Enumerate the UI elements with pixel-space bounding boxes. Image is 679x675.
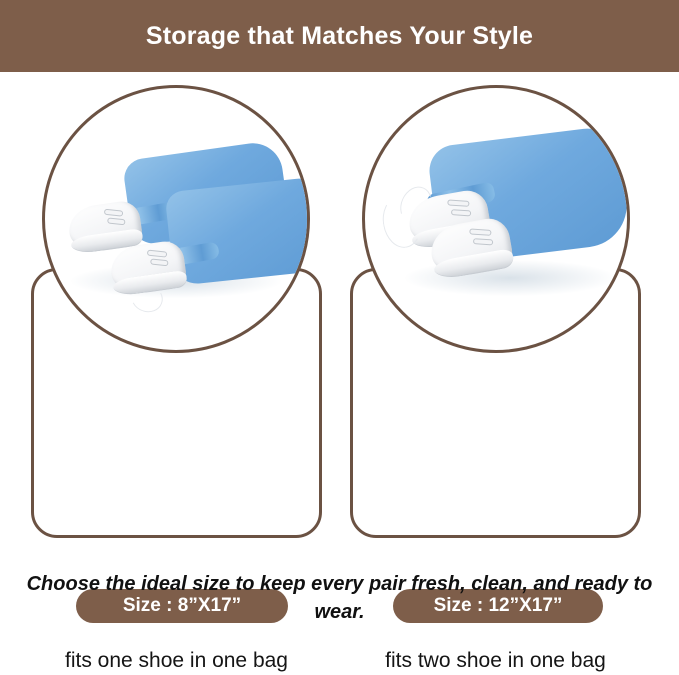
- card-caption-large: fits two shoe in one bag: [363, 647, 628, 675]
- page-title: Storage that Matches Your Style: [146, 22, 533, 51]
- product-photo-large: [365, 88, 627, 350]
- size-comparison-area: Size : 8”X17” fits one shoe in one bag: [0, 72, 679, 562]
- header-banner: Storage that Matches Your Style: [0, 0, 679, 72]
- product-image-circle-small: [42, 85, 310, 353]
- footer-note: Choose the ideal size to keep every pair…: [0, 570, 679, 626]
- product-photo-small: [45, 88, 307, 350]
- product-image-circle-large: [362, 85, 630, 353]
- shoe-bag-front: [165, 176, 310, 286]
- card-caption-small: fits one shoe in one bag: [44, 647, 309, 675]
